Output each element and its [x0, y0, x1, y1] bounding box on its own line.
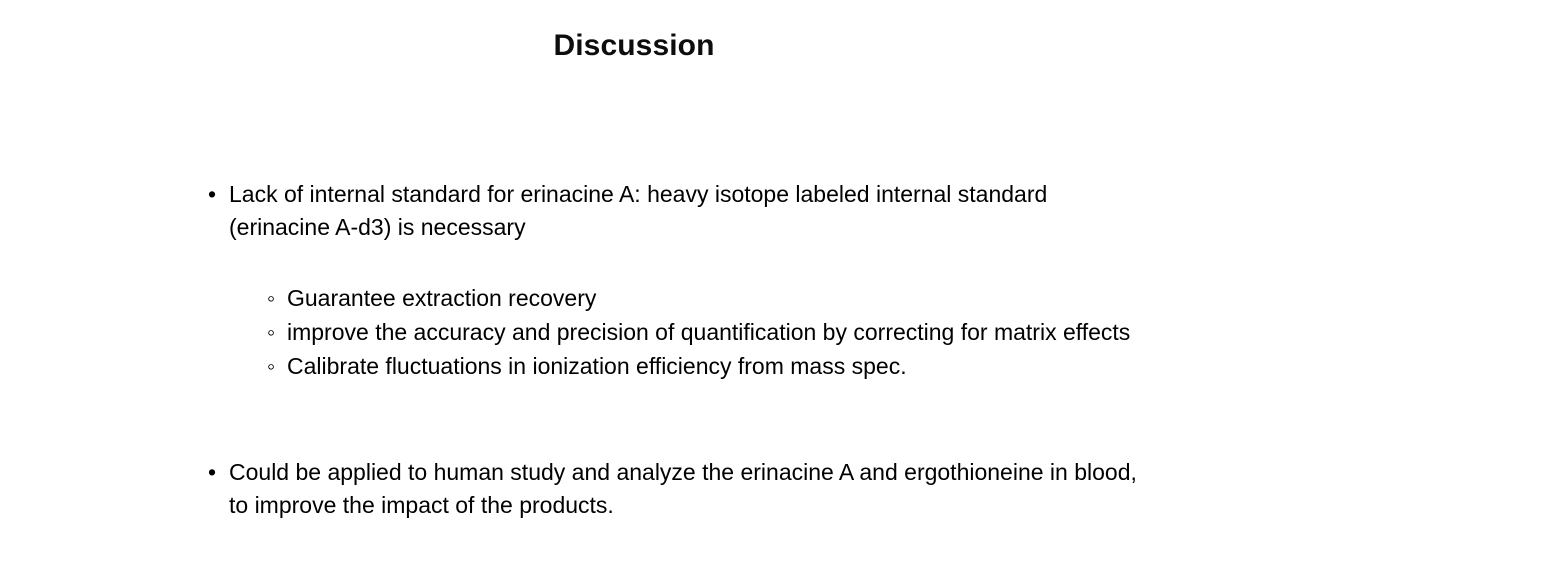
sub-bullet-item: ◦ Calibrate fluctuations in ionization e… — [205, 349, 1405, 383]
hollow-round-bullet-icon: ◦ — [267, 281, 275, 315]
filled-round-bullet-icon: • — [208, 178, 216, 211]
slide-body: • Lack of internal standard for erinacin… — [205, 178, 1405, 522]
sub-bullet-item: ◦ improve the accuracy and precision of … — [205, 315, 1405, 349]
sub-bullet-item: ◦ Guarantee extraction recovery — [205, 281, 1405, 315]
spacer — [205, 383, 1405, 456]
page-title: Discussion — [0, 27, 1268, 65]
hollow-round-bullet-icon: ◦ — [267, 315, 275, 349]
bullet-line: (erinacine A-d3) is necessary — [229, 211, 1309, 244]
sub-bullet-label: improve the accuracy and precision of qu… — [287, 319, 1130, 345]
spacer — [205, 244, 1405, 281]
bullet-item: • Could be applied to human study and an… — [205, 456, 1309, 522]
filled-round-bullet-icon: • — [208, 456, 216, 489]
bullet-line: to improve the impact of the products. — [229, 489, 1309, 522]
bullet-item: • Lack of internal standard for erinacin… — [205, 178, 1309, 244]
hollow-round-bullet-icon: ◦ — [267, 349, 275, 383]
sub-bullet-label: Calibrate fluctuations in ionization eff… — [287, 353, 907, 379]
sub-bullet-list: ◦ Guarantee extraction recovery ◦ improv… — [205, 281, 1405, 383]
sub-bullet-label: Guarantee extraction recovery — [287, 285, 596, 311]
slide-canvas: Discussion • Lack of internal standard f… — [0, 0, 1543, 561]
bullet-line: Could be applied to human study and anal… — [229, 456, 1309, 489]
bullet-line: Lack of internal standard for erinacine … — [229, 178, 1309, 211]
